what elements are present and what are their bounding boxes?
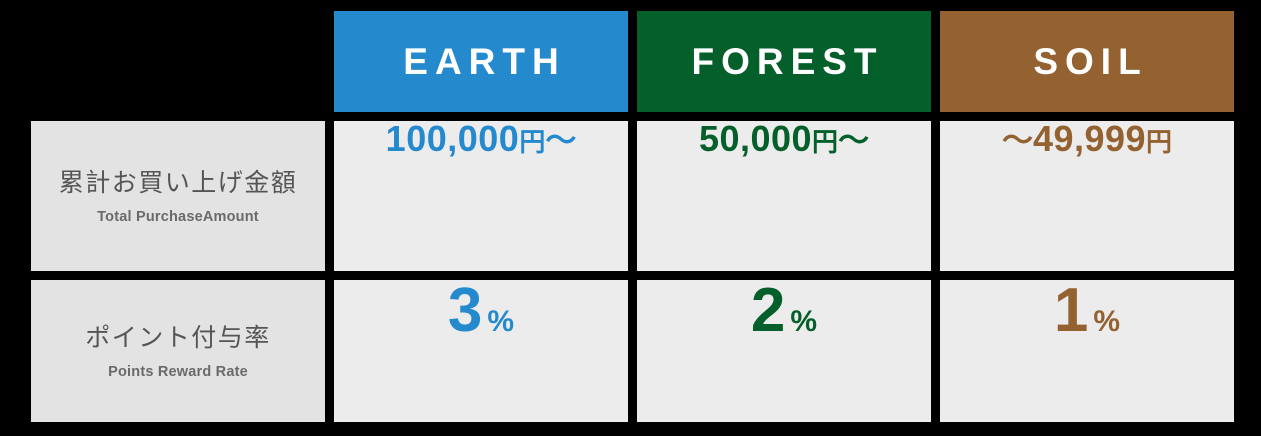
rate-soil: 1 % <box>1054 280 1120 342</box>
amount-forest-number: 50,000 <box>699 121 812 159</box>
value-forest-points-reward-rate: 2 % <box>637 280 931 422</box>
amount-soil-number: 49,999 <box>1033 121 1146 159</box>
tier-header-forest-label: FOREST <box>684 43 883 80</box>
rate-earth: 3 % <box>448 280 514 342</box>
tier-header-earth: EARTH <box>334 11 628 112</box>
amount-earth-number: 100,000 <box>386 121 520 159</box>
amount-soil-unit: 円 <box>1146 127 1172 157</box>
rate-earth-number: 3 <box>448 280 482 342</box>
rate-forest: 2 % <box>751 280 817 342</box>
amount-soil: 〜49,999円 <box>1002 121 1172 157</box>
row-label-en-total-purchase-amount: Total PurchaseAmount <box>97 209 259 225</box>
tier-header-forest: FOREST <box>637 11 931 112</box>
table-corner-cell <box>31 11 325 112</box>
rate-soil-unit: % <box>1093 307 1120 337</box>
tier-header-soil-label: SOIL <box>1026 43 1147 80</box>
value-soil-points-reward-rate: 1 % <box>940 280 1234 422</box>
amount-forest: 50,000円〜 <box>699 121 869 157</box>
row-label-total-purchase-amount: 累計お買い上げ金額 Total PurchaseAmount <box>31 121 325 271</box>
tier-header-soil: SOIL <box>940 11 1234 112</box>
rate-forest-number: 2 <box>751 280 785 342</box>
amount-earth: 100,000円〜 <box>386 121 577 157</box>
amount-earth-unit: 円 <box>519 127 545 157</box>
value-earth-total-purchase-amount: 100,000円〜 <box>334 121 628 271</box>
row-label-jp-total-purchase-amount: 累計お買い上げ金額 <box>59 168 298 198</box>
row-label-en-points-reward-rate: Points Reward Rate <box>108 364 248 380</box>
amount-forest-unit: 円 <box>812 127 838 157</box>
value-forest-total-purchase-amount: 50,000円〜 <box>637 121 931 271</box>
value-earth-points-reward-rate: 3 % <box>334 280 628 422</box>
tier-header-earth-label: EARTH <box>396 43 565 80</box>
rate-forest-unit: % <box>790 307 817 337</box>
amount-forest-tilde-after: 〜 <box>838 123 869 158</box>
amount-soil-tilde-before: 〜 <box>1002 123 1033 158</box>
row-label-jp-points-reward-rate: ポイント付与率 <box>85 323 271 353</box>
membership-rank-table: EARTH FOREST SOIL 累計お買い上げ金額 Total Purcha… <box>31 11 1230 425</box>
rate-earth-unit: % <box>487 307 514 337</box>
row-label-points-reward-rate: ポイント付与率 Points Reward Rate <box>31 280 325 422</box>
rate-soil-number: 1 <box>1054 280 1088 342</box>
value-soil-total-purchase-amount: 〜49,999円 <box>940 121 1234 271</box>
amount-earth-tilde-after: 〜 <box>545 123 576 158</box>
